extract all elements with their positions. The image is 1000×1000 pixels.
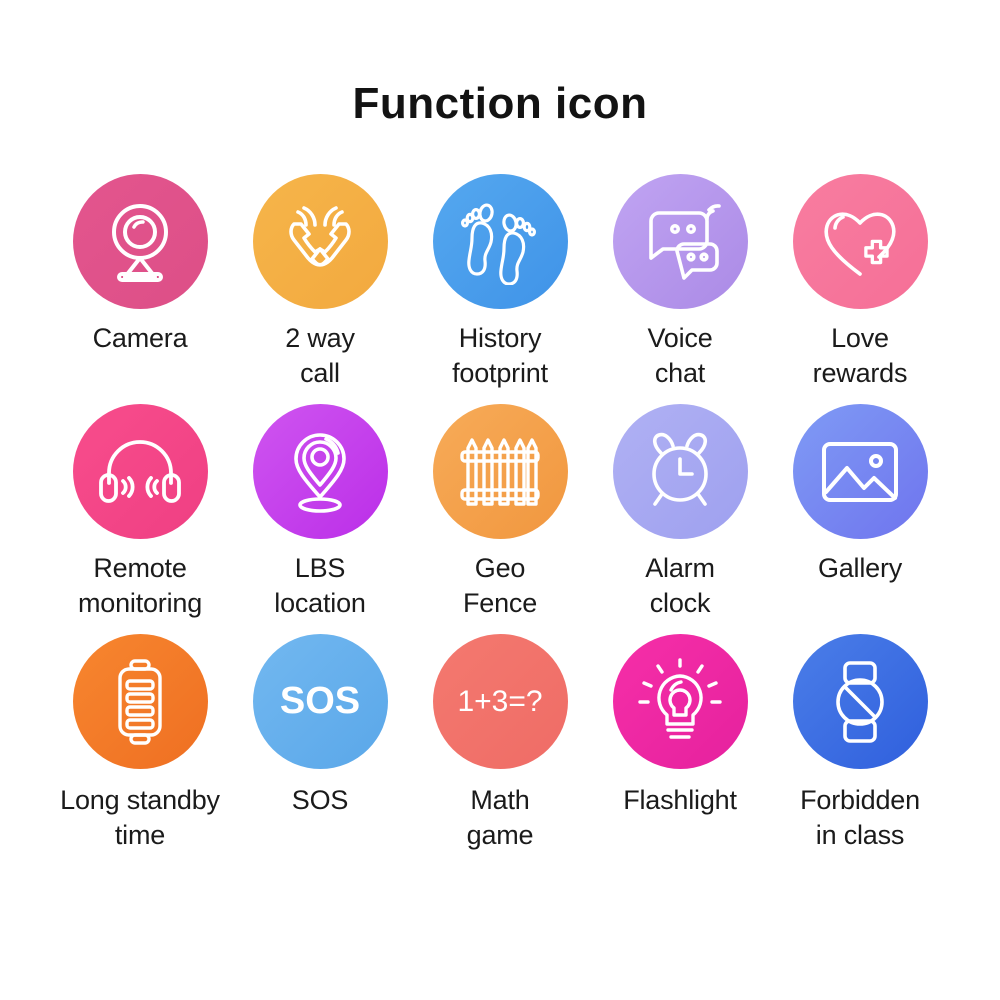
history-footprint-badge[interactable] bbox=[433, 174, 568, 309]
icon-cell-long-standby-time[interactable]: Long standbytime bbox=[50, 634, 230, 864]
icon-cell-sos[interactable]: SOS SOS bbox=[230, 634, 410, 864]
icon-cell-gallery[interactable]: Gallery bbox=[770, 404, 950, 634]
icon-label: GeoFence bbox=[463, 551, 537, 620]
math-equation-icon: 1+3=? bbox=[457, 685, 542, 719]
fence-icon bbox=[458, 432, 542, 512]
footprints-icon bbox=[458, 199, 542, 285]
love-rewards-badge[interactable] bbox=[793, 174, 928, 309]
two-way-call-badge[interactable] bbox=[253, 174, 388, 309]
gallery-badge[interactable] bbox=[793, 404, 928, 539]
location-pin-icon bbox=[280, 427, 360, 517]
icon-label: Voicechat bbox=[647, 321, 712, 390]
headphones-icon bbox=[95, 435, 185, 509]
function-icon-poster: Function icon Camera bbox=[0, 0, 1000, 1000]
icon-cell-camera[interactable]: Camera bbox=[50, 174, 230, 404]
icon-label: Historyfootprint bbox=[452, 321, 548, 390]
icon-label: Remotemonitoring bbox=[78, 551, 202, 620]
icon-label: Long standbytime bbox=[60, 783, 220, 852]
icon-label: Mathgame bbox=[467, 783, 534, 852]
icon-cell-history-footprint[interactable]: Historyfootprint bbox=[410, 174, 590, 404]
icon-label: Camera bbox=[93, 321, 188, 356]
voice-chat-badge[interactable] bbox=[613, 174, 748, 309]
icon-cell-geo-fence[interactable]: GeoFence bbox=[410, 404, 590, 634]
sos-text-icon: SOS bbox=[280, 680, 360, 723]
page-title: Function icon bbox=[0, 0, 1000, 126]
icon-label: Loverewards bbox=[813, 321, 908, 390]
math-game-badge[interactable]: 1+3=? bbox=[433, 634, 568, 769]
icon-cell-math-game[interactable]: 1+3=? Mathgame bbox=[410, 634, 590, 864]
icon-label: SOS bbox=[292, 783, 348, 818]
icon-grid: Camera 2 waycall bbox=[50, 126, 950, 864]
geo-fence-badge[interactable] bbox=[433, 404, 568, 539]
icon-cell-forbidden-in-class[interactable]: Forbiddenin class bbox=[770, 634, 950, 864]
voice-chat-icon bbox=[637, 203, 723, 281]
icon-cell-love-rewards[interactable]: Loverewards bbox=[770, 174, 950, 404]
heart-plus-icon bbox=[817, 202, 903, 282]
two-way-call-icon bbox=[276, 200, 364, 284]
battery-icon bbox=[108, 657, 172, 747]
lbs-location-badge[interactable] bbox=[253, 404, 388, 539]
icon-label: Gallery bbox=[818, 551, 902, 586]
watch-forbidden-icon bbox=[823, 657, 897, 747]
camera-badge[interactable] bbox=[73, 174, 208, 309]
alarm-clock-icon bbox=[637, 429, 723, 515]
flashlight-badge[interactable] bbox=[613, 634, 748, 769]
alarm-clock-badge[interactable] bbox=[613, 404, 748, 539]
remote-monitoring-badge[interactable] bbox=[73, 404, 208, 539]
icon-cell-flashlight[interactable]: Flashlight bbox=[590, 634, 770, 864]
icon-label: 2 waycall bbox=[285, 321, 355, 390]
lightbulb-icon bbox=[638, 658, 722, 746]
icon-cell-voice-chat[interactable]: Voicechat bbox=[590, 174, 770, 404]
long-standby-time-badge[interactable] bbox=[73, 634, 208, 769]
sos-badge[interactable]: SOS bbox=[253, 634, 388, 769]
forbidden-in-class-badge[interactable] bbox=[793, 634, 928, 769]
icon-label: Flashlight bbox=[623, 783, 737, 818]
icon-label: LBSlocation bbox=[274, 551, 365, 620]
icon-cell-remote-monitoring[interactable]: Remotemonitoring bbox=[50, 404, 230, 634]
camera-icon bbox=[97, 199, 183, 285]
icon-label: Forbiddenin class bbox=[800, 783, 920, 852]
icon-cell-alarm-clock[interactable]: Alarmclock bbox=[590, 404, 770, 634]
icon-label: Alarmclock bbox=[645, 551, 715, 620]
icon-cell-two-way-call[interactable]: 2 waycall bbox=[230, 174, 410, 404]
gallery-image-icon bbox=[819, 436, 901, 508]
icon-cell-lbs-location[interactable]: LBSlocation bbox=[230, 404, 410, 634]
